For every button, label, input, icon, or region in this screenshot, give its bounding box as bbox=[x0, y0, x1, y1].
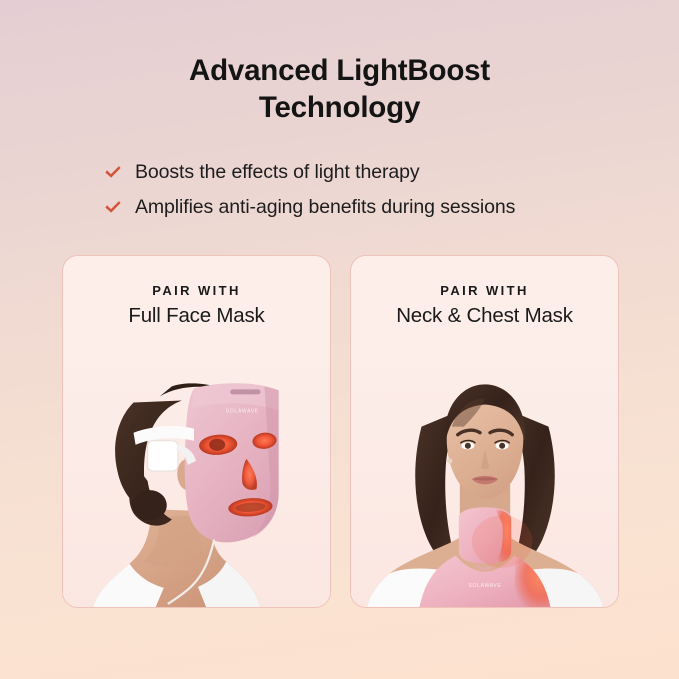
benefit-item: Amplifies anti-aging benefits during ses… bbox=[103, 195, 603, 220]
product-image-full-face-mask: SOLAWAVE bbox=[63, 340, 330, 607]
card-product-name: Neck & Chest Mask bbox=[351, 304, 618, 328]
product-card-full-face-mask[interactable]: PAIR WITH Full Face Mask bbox=[62, 255, 331, 608]
brand-label-right: SOLAWAVE bbox=[468, 583, 501, 589]
benefit-label: Boosts the effects of light therapy bbox=[135, 160, 419, 185]
benefits-list: Boosts the effects of light therapy Ampl… bbox=[103, 160, 603, 230]
check-icon bbox=[103, 163, 123, 185]
card-kicker: PAIR WITH bbox=[63, 283, 330, 298]
benefit-item: Boosts the effects of light therapy bbox=[103, 160, 603, 185]
page-title: Advanced LightBoost Technology bbox=[0, 52, 679, 126]
page-title-line-1: Advanced LightBoost bbox=[189, 54, 490, 87]
benefit-label: Amplifies anti-aging benefits during ses… bbox=[135, 195, 515, 220]
page-title-line-2: Technology bbox=[0, 89, 679, 126]
promo-banner: Advanced LightBoost Technology Boosts th… bbox=[0, 0, 679, 679]
check-icon bbox=[103, 198, 123, 220]
card-kicker: PAIR WITH bbox=[351, 283, 618, 298]
brand-label-left: SOLAWAVE bbox=[226, 409, 259, 415]
product-image-neck-chest-mask: SOLAWAVE bbox=[351, 340, 618, 607]
product-card-neck-chest-mask[interactable]: PAIR WITH Neck & Chest Mask bbox=[350, 255, 619, 608]
card-product-name: Full Face Mask bbox=[63, 304, 330, 328]
